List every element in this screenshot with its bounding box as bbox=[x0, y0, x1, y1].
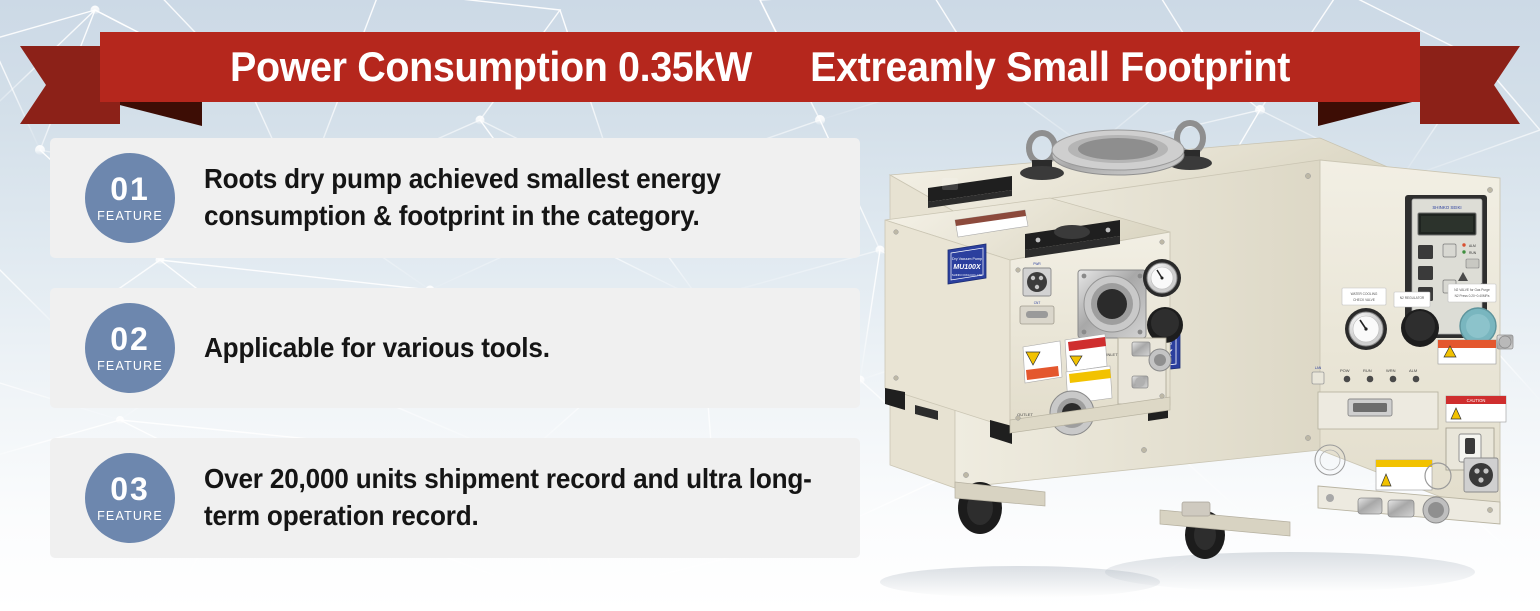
feature-label: FEATURE bbox=[97, 360, 163, 373]
pressure-gauge-large bbox=[1345, 308, 1387, 350]
ribbon-title-right: Extreamly Small Footprint bbox=[810, 46, 1290, 88]
ribbon-title-left: Power Consumption 0.35kW bbox=[230, 46, 752, 88]
warning-label-large-1 bbox=[1438, 340, 1496, 364]
svg-text:PWR: PWR bbox=[1033, 262, 1041, 266]
svg-text:CAUTION: CAUTION bbox=[1467, 398, 1486, 403]
ribbon-title: Power Consumption 0.35kW Extreamly Small… bbox=[140, 32, 1381, 102]
feature-text-02: Applicable for various tools. bbox=[204, 330, 550, 367]
svg-text:RUN: RUN bbox=[1469, 251, 1477, 255]
svg-text:Dry Vacuum Pump: Dry Vacuum Pump bbox=[952, 257, 982, 261]
feature-text-03: Over 20,000 units shipment record and ul… bbox=[204, 461, 812, 534]
feature-card-03: 03 FEATURE Over 20,000 units shipment re… bbox=[50, 438, 860, 558]
caster-wheels-large bbox=[955, 482, 1290, 559]
io-connector-panel bbox=[1318, 392, 1438, 429]
svg-text:ALM: ALM bbox=[1409, 368, 1417, 373]
product-photo-group: Dry Vacuum Pump MU1200X SHINKO KIKAI CO.… bbox=[860, 120, 1540, 611]
svg-text:MU100X: MU100X bbox=[953, 264, 982, 271]
feature-card-list: 01 FEATURE Roots dry pump achieved small… bbox=[50, 138, 860, 588]
svg-text:N2 Press 0.20~0.40MPa: N2 Press 0.20~0.40MPa bbox=[1455, 294, 1490, 298]
feature-card-01: 01 FEATURE Roots dry pump achieved small… bbox=[50, 138, 860, 258]
svg-text:N2 REGULATOR: N2 REGULATOR bbox=[1400, 296, 1425, 300]
warning-label-large-2 bbox=[1376, 460, 1432, 490]
svg-text:WATER COOLING: WATER COOLING bbox=[1351, 292, 1378, 296]
header-ribbon: Power Consumption 0.35kW Extreamly Small… bbox=[0, 0, 1540, 140]
feature-badge-01: 01 FEATURE bbox=[85, 153, 175, 243]
svg-text:WRN: WRN bbox=[1386, 368, 1396, 373]
feature-badge-03: 03 FEATURE bbox=[85, 453, 175, 543]
feature-number: 02 bbox=[110, 323, 150, 355]
svg-text:CHECK VALVE: CHECK VALVE bbox=[1353, 298, 1375, 302]
svg-text:N2 VALVE for Gas Purge: N2 VALVE for Gas Purge bbox=[1454, 288, 1490, 292]
svg-text:POW: POW bbox=[1340, 368, 1350, 373]
svg-text:LAN: LAN bbox=[1315, 366, 1322, 370]
ribbon-tail-right bbox=[1420, 46, 1520, 124]
feature-label: FEATURE bbox=[97, 210, 163, 223]
svg-text:CNT: CNT bbox=[1034, 301, 1041, 305]
banner-stage: Power Consumption 0.35kW Extreamly Small… bbox=[0, 0, 1540, 611]
feature-badge-02: 02 FEATURE bbox=[85, 303, 175, 393]
pressure-gauge-small bbox=[1143, 259, 1181, 297]
feature-text-01: Roots dry pump achieved smallest energy … bbox=[204, 161, 812, 234]
nameplate-label-small: Dry Vacuum Pump MU100X SHINKO KIKAI CO.,… bbox=[948, 244, 986, 284]
svg-text:RUN: RUN bbox=[1363, 368, 1372, 373]
feature-number: 03 bbox=[110, 473, 150, 505]
caution-label-large: CAUTION bbox=[1446, 396, 1506, 422]
n2-inlet-fitting bbox=[1497, 335, 1513, 349]
svg-text:INLET: INLET bbox=[1106, 352, 1118, 357]
feature-card-02: 02 FEATURE Applicable for various tools. bbox=[50, 288, 860, 408]
top-inlet-flange bbox=[1052, 130, 1184, 175]
feature-label: FEATURE bbox=[97, 510, 163, 523]
svg-text:ALM: ALM bbox=[1469, 244, 1476, 248]
large-pump-shadow bbox=[1105, 552, 1475, 592]
feature-number: 01 bbox=[110, 173, 150, 205]
svg-text:SHINKO KIKAI CO.,LTD: SHINKO KIKAI CO.,LTD bbox=[952, 273, 982, 277]
svg-text:SHINKO SEIKI: SHINKO SEIKI bbox=[1432, 205, 1461, 210]
